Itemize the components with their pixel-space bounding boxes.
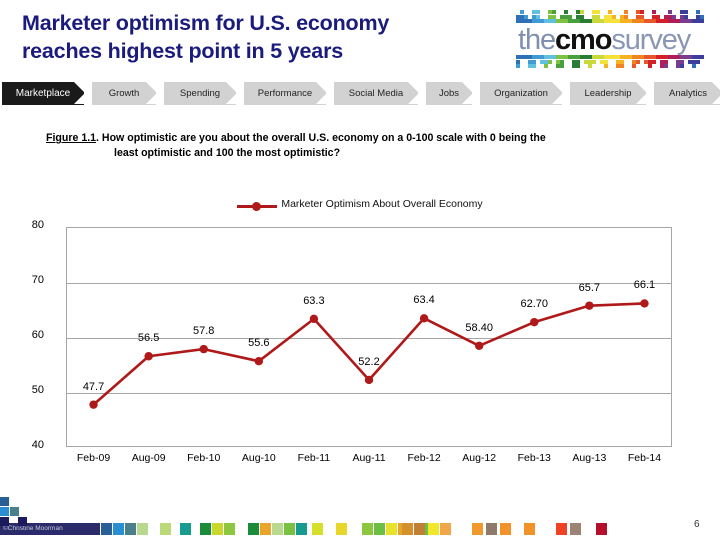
tab-notch-icon	[146, 82, 156, 104]
logo-pixel	[536, 15, 540, 19]
footer-decor-square	[556, 523, 567, 535]
logo-pixel	[552, 15, 556, 19]
logo-pixel-row-bottom	[516, 55, 706, 73]
logo-pixel	[604, 64, 608, 68]
footer-decor-square	[0, 497, 9, 506]
tab-notch-icon	[552, 82, 562, 104]
logo-pixel	[652, 60, 656, 64]
series-data-point	[475, 342, 483, 350]
series-data-point	[420, 314, 428, 322]
logo-pixel	[576, 60, 580, 64]
logo-pixel	[636, 60, 640, 64]
footer-decor-square	[296, 523, 307, 535]
logo-pixel	[656, 15, 660, 19]
tab-notch-icon	[462, 82, 472, 104]
logo-pixel	[596, 15, 600, 19]
series-data-point	[310, 315, 318, 323]
tab-label: Social Media	[345, 88, 407, 99]
logo-pixel	[700, 19, 704, 23]
logo-pixel	[532, 64, 536, 68]
data-point-label: 65.7	[559, 282, 619, 294]
footer-decor-square	[284, 523, 295, 535]
tab-marketplace[interactable]: Marketplace	[2, 82, 84, 105]
figure-caption-line-2: least optimistic and 100 the most optimi…	[114, 146, 691, 161]
logo-pixel	[700, 55, 704, 59]
tab-notch-icon	[712, 82, 720, 104]
footer-decor-square	[260, 523, 271, 535]
logo-pixel	[624, 15, 628, 19]
footer-decor-square	[414, 523, 425, 535]
logo-pixel	[604, 60, 608, 64]
figure-caption: Figure 1.1. How optimistic are you about…	[46, 131, 691, 160]
y-axis-tick-label: 50	[4, 384, 44, 396]
logo-pixel	[612, 15, 616, 19]
data-point-label: 62.70	[504, 298, 564, 310]
tab-growth[interactable]: Growth	[92, 82, 156, 105]
tab-analytics[interactable]: Analytics	[654, 82, 720, 105]
footer-decor-square	[10, 507, 19, 516]
footer-decor-square	[200, 523, 211, 535]
footer-decor-square	[472, 523, 483, 535]
logo-pixel	[624, 10, 628, 14]
tab-label: Performance	[254, 88, 316, 99]
logo-pixel	[592, 60, 596, 64]
logo-pixel	[544, 64, 548, 68]
tab-label: Jobs	[435, 88, 463, 99]
series-data-point	[530, 318, 538, 326]
logo-pixel	[552, 10, 556, 14]
logo-pixel	[640, 10, 644, 14]
logo-text-the: the	[518, 24, 555, 56]
series-data-point	[144, 352, 152, 360]
logo-pixel	[564, 10, 568, 14]
data-point-label: 56.5	[119, 332, 179, 344]
footer-decor-square	[248, 523, 259, 535]
logo-pixel	[576, 64, 580, 68]
logo-pixel	[516, 64, 520, 68]
footer-decor-square	[524, 523, 535, 535]
logo-pixel	[536, 10, 540, 14]
data-point-label: 66.1	[614, 279, 674, 291]
logo-pixel	[696, 10, 700, 14]
footer-decor-square	[0, 517, 9, 526]
footer-decor-square	[0, 507, 9, 516]
page-title: Marketer optimism for U.S. economy reach…	[22, 10, 502, 65]
logo-pixel	[664, 64, 668, 68]
logo-pixel-row-top	[516, 5, 706, 23]
footer-decor-square	[137, 523, 148, 535]
y-axis-tick-label: 40	[4, 439, 44, 451]
page-title-line-2: reaches highest point in 5 years	[22, 38, 502, 66]
logo-pixel	[588, 64, 592, 68]
footer-decor-square	[18, 517, 27, 526]
logo-pixel	[524, 15, 528, 19]
y-axis-tick-label: 80	[4, 219, 44, 231]
tab-leadership[interactable]: Leadership	[570, 82, 646, 105]
logo-pixel	[568, 15, 572, 19]
logo-pixel	[700, 15, 704, 19]
tab-notch-icon	[316, 82, 326, 104]
figure-caption-line-1: . How optimistic are you about the overa…	[96, 132, 546, 144]
logo-pixel	[652, 10, 656, 14]
tab-notch-icon	[226, 82, 236, 104]
figure-number: Figure 1.1	[46, 132, 96, 144]
footer-decor-square	[160, 523, 171, 535]
tab-social-media[interactable]: Social Media	[334, 82, 418, 105]
data-point-label: 55.6	[229, 337, 289, 349]
logo-pixel	[684, 15, 688, 19]
footer-decor-square	[212, 523, 223, 535]
footer-decor-square	[386, 523, 397, 535]
logo-pixel	[548, 60, 552, 64]
data-point-label: 52.2	[339, 356, 399, 368]
logo-pixel	[580, 15, 584, 19]
footer-decor-square	[224, 523, 235, 535]
logo-pixel	[696, 60, 700, 64]
slide-footer: ©Christine Moorman 6	[0, 497, 720, 540]
x-axis-tick-label: Feb-14	[604, 452, 684, 464]
footer-decor-square	[362, 523, 373, 535]
footer-decor-square	[402, 523, 413, 535]
logo-pixel	[664, 60, 668, 64]
footer-decor-square	[180, 523, 191, 535]
footer-decor-square	[125, 523, 136, 535]
series-line	[94, 303, 645, 404]
logo-pixel	[680, 64, 684, 68]
logo-pixel	[632, 64, 636, 68]
logo-pixel	[668, 10, 672, 14]
logo-pixel	[680, 60, 684, 64]
slide-header: Marketer optimism for U.S. economy reach…	[0, 0, 720, 82]
tab-notch-icon	[74, 82, 84, 104]
logo-pixel	[620, 60, 624, 64]
footer-decor-square	[336, 523, 347, 535]
tab-label: Organization	[490, 88, 552, 99]
legend-label: Marketer Optimism About Overall Economy	[281, 198, 482, 210]
data-point-label: 58.40	[449, 322, 509, 334]
logo-text-cmo: cmo	[555, 24, 611, 56]
page-title-line-1: Marketer optimism for U.S. economy	[22, 10, 502, 38]
data-point-label: 63.4	[394, 294, 454, 306]
logo-text-survey: survey	[611, 24, 690, 56]
tab-label: Spending	[176, 88, 224, 99]
logo-pixel	[640, 15, 644, 19]
logo-pixel	[648, 64, 652, 68]
legend-marker-icon	[252, 202, 261, 211]
y-axis-tick-label: 70	[4, 274, 44, 286]
series-data-point	[585, 301, 593, 309]
cmo-survey-logo: thecmosurvey	[512, 3, 708, 75]
footer-decor-square	[440, 523, 451, 535]
footer-decor-square	[113, 523, 124, 535]
footer-decor-square	[101, 523, 112, 535]
logo-pixel	[596, 10, 600, 14]
tab-label: Growth	[105, 88, 144, 99]
copyright-badge: ©Christine Moorman	[0, 523, 100, 535]
footer-decor-square	[374, 523, 385, 535]
logo-wordmark: thecmosurvey	[518, 25, 704, 55]
logo-pixel	[620, 64, 624, 68]
series-data-point	[200, 345, 208, 353]
tab-label: Leadership	[580, 88, 635, 99]
series-data-point	[365, 376, 373, 384]
footer-decor-square	[272, 523, 283, 535]
tab-notch-icon	[636, 82, 646, 104]
footer-decor-square	[312, 523, 323, 535]
logo-pixel	[684, 10, 688, 14]
logo-pixel	[580, 10, 584, 14]
tab-performance[interactable]: Performance	[244, 82, 326, 105]
y-axis-tick-label: 60	[4, 329, 44, 341]
footer-decor-square	[428, 523, 439, 535]
footer-decor-square	[486, 523, 497, 535]
tab-organization[interactable]: Organization	[480, 82, 562, 105]
logo-pixel	[516, 60, 520, 64]
tab-notch-icon	[408, 82, 418, 104]
breadcrumb-tab-bar: MarketplaceGrowthSpendingPerformanceSoci…	[0, 82, 720, 105]
page-number: 6	[694, 519, 712, 530]
footer-decor-square	[596, 523, 607, 535]
logo-pixel	[672, 15, 676, 19]
tab-spending[interactable]: Spending	[164, 82, 236, 105]
line-chart: Marketer Optimism About Overall Economy …	[0, 196, 720, 471]
series-data-point	[89, 400, 97, 408]
data-point-label: 47.7	[64, 381, 124, 393]
series-data-point	[640, 299, 648, 307]
footer-decor-square	[570, 523, 581, 535]
chart-legend: Marketer Optimism About Overall Economy	[0, 198, 720, 214]
data-point-label: 57.8	[174, 325, 234, 337]
logo-pixel	[520, 10, 524, 14]
logo-pixel	[692, 64, 696, 68]
tab-label: Analytics	[665, 88, 711, 99]
data-point-label: 63.3	[284, 295, 344, 307]
series-data-point	[255, 357, 263, 365]
logo-pixel	[560, 60, 564, 64]
tab-label: Marketplace	[12, 88, 74, 99]
footer-decor-square	[500, 523, 511, 535]
logo-pixel	[532, 60, 536, 64]
logo-pixel	[560, 64, 564, 68]
logo-pixel	[608, 10, 612, 14]
tab-jobs[interactable]: Jobs	[426, 82, 472, 105]
